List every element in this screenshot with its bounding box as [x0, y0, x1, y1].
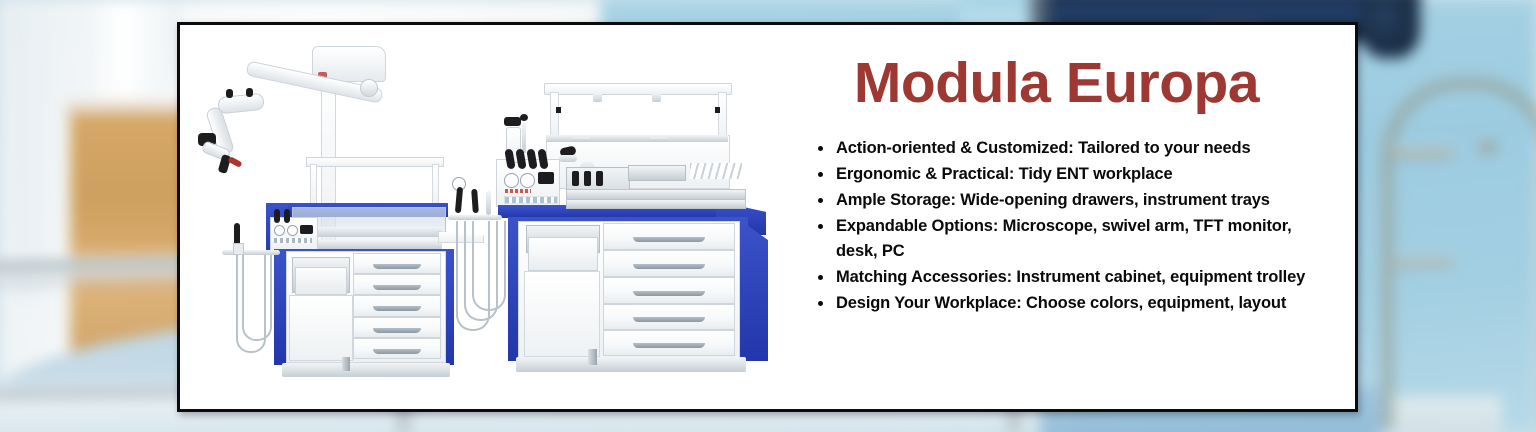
right-unit-shelf-clip-right: [652, 93, 661, 102]
left-unit-drawer-3[interactable]: [353, 295, 441, 317]
right-unit-knob-base: [559, 155, 577, 162]
page-title: Modula Europa: [788, 55, 1335, 112]
left-unit-microscope-knob-2: [246, 88, 253, 97]
right-unit-tray-bin: [528, 237, 598, 271]
left-unit-foot-pedal: [342, 357, 350, 371]
right-unit-bottle-cap: [504, 117, 521, 126]
right-unit-foot-pedal: [588, 349, 597, 365]
right-unit-shelf-bolt-right: [715, 107, 720, 113]
right-unit-bottle-arm: [522, 123, 526, 153]
right-unit-tray-center: [628, 165, 686, 181]
right-unit-rail-tool-3: [486, 191, 491, 215]
product-right-treatment-unit: [460, 39, 780, 395]
right-unit-door: [524, 271, 600, 357]
right-unit-rail-tool-1: [455, 187, 463, 213]
right-unit-tray-tool-3: [596, 171, 603, 186]
bg-column: [18, 0, 44, 300]
list-item: Design Your Workplace: Choose colors, eq…: [818, 291, 1335, 316]
bg-bed-rail-curved: [1382, 78, 1536, 429]
right-unit-drawer-4[interactable]: [603, 304, 735, 330]
list-item: Ample Storage: Wide-opening drawers, ins…: [818, 188, 1335, 213]
product-left-workstation: [200, 45, 480, 395]
left-unit-button-row: [274, 238, 312, 243]
left-unit-handpiece-1: [274, 209, 280, 223]
right-unit-drawer-5[interactable]: [603, 330, 735, 356]
right-unit-display: [538, 172, 554, 184]
left-unit-basin: [295, 267, 347, 295]
right-unit-button-row: [504, 196, 558, 204]
right-unit-gauge-1: [504, 173, 519, 188]
list-item: Action-oriented & Customized: Tailored t…: [818, 136, 1335, 161]
right-unit-drawer-3[interactable]: [603, 277, 735, 304]
bg-bed-rail-bar-lower: [1390, 257, 1452, 267]
left-unit-handpiece-2: [284, 209, 290, 223]
right-unit-shelf-leg-left: [550, 92, 559, 140]
left-unit-microscope-head: [217, 93, 265, 115]
right-unit-hood-hinge-right: [650, 137, 668, 141]
right-unit-tray-tool-2: [584, 171, 591, 186]
left-unit-upper-shelf: [306, 157, 444, 167]
right-unit-shelf-clip-left: [593, 93, 602, 102]
left-unit-rail-holder: [233, 243, 244, 255]
product-images: [180, 25, 780, 409]
left-unit-display: [300, 225, 313, 234]
list-item: Expandable Options: Microscope, swivel a…: [818, 214, 1335, 264]
right-unit-instrument-rail: [448, 215, 502, 220]
left-unit-microscope-knob-1: [226, 89, 233, 98]
right-unit-base-plinth: [516, 357, 746, 372]
left-unit-gauge-2: [287, 225, 298, 236]
left-unit-door: [289, 295, 353, 361]
list-item: Ergonomic & Practical: Tidy ENT workplac…: [818, 162, 1335, 187]
banner-stage: Modula Europa Action-oriented & Customiz…: [0, 0, 1536, 432]
right-unit-upper-shelf: [544, 83, 732, 95]
left-unit-arm-joint: [360, 79, 378, 97]
list-item: Matching Accessories: Instrument cabinet…: [818, 265, 1335, 290]
right-unit-hood-hinge-left: [572, 137, 590, 141]
right-unit-shelf-bolt-left: [556, 107, 561, 113]
right-unit-gauge-2: [520, 173, 535, 188]
right-unit-tube-3: [472, 221, 506, 311]
left-unit-drawer-4[interactable]: [353, 317, 441, 338]
feature-list: Action-oriented & Customized: Tailored t…: [788, 136, 1335, 316]
left-unit-drawer-5[interactable]: [353, 338, 441, 359]
bg-ceiling-fixture: [1360, 0, 1420, 58]
bg-bed-rail-knob: [1478, 140, 1496, 154]
right-unit-indicator-lights: [505, 189, 531, 193]
left-unit-drawer-1[interactable]: [353, 253, 441, 274]
right-unit-tray-long-2: [566, 199, 746, 209]
right-unit-bottle-knob: [520, 114, 528, 121]
bg-bed-rail-bar-upper: [1390, 147, 1452, 158]
left-unit-gauge-1: [274, 225, 285, 236]
left-unit-microscope-grip: [227, 156, 242, 168]
right-unit-drawer-1[interactable]: [603, 223, 735, 250]
text-column: Modula Europa Action-oriented & Customiz…: [780, 25, 1355, 409]
right-unit-shelf-leg-right: [718, 92, 727, 140]
right-unit-drawer-2[interactable]: [603, 250, 735, 277]
right-unit-instrument-rack: [690, 163, 742, 179]
right-unit-rail-tool-2: [471, 189, 479, 213]
content-panel: Modula Europa Action-oriented & Customiz…: [177, 22, 1358, 412]
left-unit-base-plinth: [282, 363, 450, 377]
left-unit-drawer-2[interactable]: [353, 274, 441, 295]
right-unit-cabinet-corner: [736, 217, 768, 361]
left-unit-tube-2: [242, 255, 272, 341]
right-unit-tray-tool-1: [572, 171, 579, 186]
